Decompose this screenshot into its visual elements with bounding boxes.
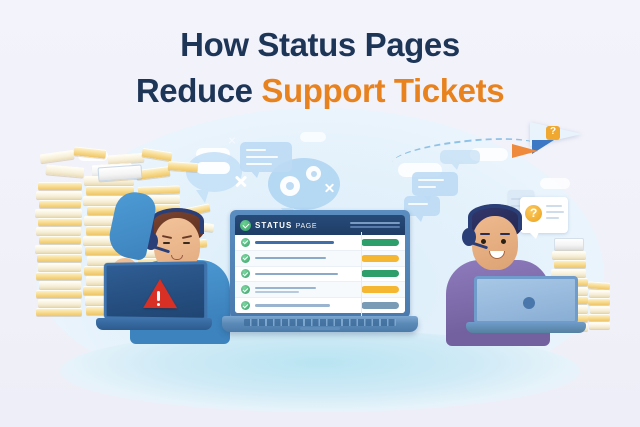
gear-icon [280,176,300,196]
status-row[interactable] [235,298,405,313]
status-row-list [235,235,405,313]
title-line-2-accent: Support Tickets [261,72,504,109]
status-page-header: STATUS PAGE [235,215,405,235]
eye [481,239,486,244]
mouth [489,251,505,259]
mouth [171,255,183,260]
chat-bubble-icon [240,142,292,172]
status-page-laptop: STATUS PAGE [222,210,418,338]
status-row[interactable] [235,267,405,283]
eyebrow [182,235,192,239]
warning-exclamation [157,291,160,301]
page-title: How Status Pages Reduce Support Tickets [0,22,640,114]
agent-arm [106,189,159,262]
right-agent-laptop [470,276,582,338]
status-row-label [255,273,356,275]
status-row[interactable] [235,235,405,251]
x-icon [234,174,248,188]
headset-icon [468,204,522,230]
left-agent-laptop [96,262,212,334]
title-line-1: How Status Pages [0,22,640,68]
headset-icon [150,208,204,234]
status-badge [361,302,399,309]
eyebrow [480,233,490,235]
plane-accent [512,144,538,158]
eye [163,242,170,244]
status-row[interactable] [235,282,405,298]
laptop-bezel: STATUS PAGE [230,210,410,318]
column-divider [361,232,362,313]
eyebrow [500,233,510,235]
status-page-screen[interactable]: STATUS PAGE [235,215,405,313]
check-circle-icon [240,220,251,231]
question-badge-icon [546,126,560,140]
laptop-trackpad [300,327,340,330]
check-icon [241,285,250,294]
status-badge [361,270,399,277]
title-line-2-plain: Reduce [136,72,262,109]
laptop-base [466,322,586,333]
status-page-meta [350,222,400,228]
status-row-label [255,287,356,293]
illustration-canvas: STATUS PAGE [0,0,640,427]
ticket-note [98,164,143,181]
laptop-screen [104,261,208,321]
laptop-keyboard-base [222,316,418,332]
check-icon [241,238,250,247]
status-row[interactable] [235,251,405,267]
warning-triangle-icon [143,279,177,308]
check-icon [241,301,250,310]
status-row-label [255,304,356,306]
status-row-label [255,241,356,243]
laptop-keys [244,319,396,326]
cloud-icon [300,132,326,142]
title-line-2: Reduce Support Tickets [0,68,640,114]
paper-plane-icon [512,118,598,180]
check-icon [241,269,250,278]
x-icon [324,182,335,193]
check-icon [241,254,250,263]
status-badge [361,239,399,246]
eye [501,239,506,244]
brand-main: STATUS [255,221,292,230]
status-page-brand: STATUS PAGE [255,221,317,230]
x-icon [228,136,236,144]
status-badge [361,286,399,293]
brand-sub: PAGE [296,223,317,230]
gear-icon [306,166,321,181]
laptop-screen [474,276,578,324]
eye [183,242,190,244]
status-badge [361,255,399,262]
eyebrow [162,235,172,239]
status-row-label [255,257,356,259]
laptop-base [96,318,212,330]
laptop-logo [523,297,535,309]
